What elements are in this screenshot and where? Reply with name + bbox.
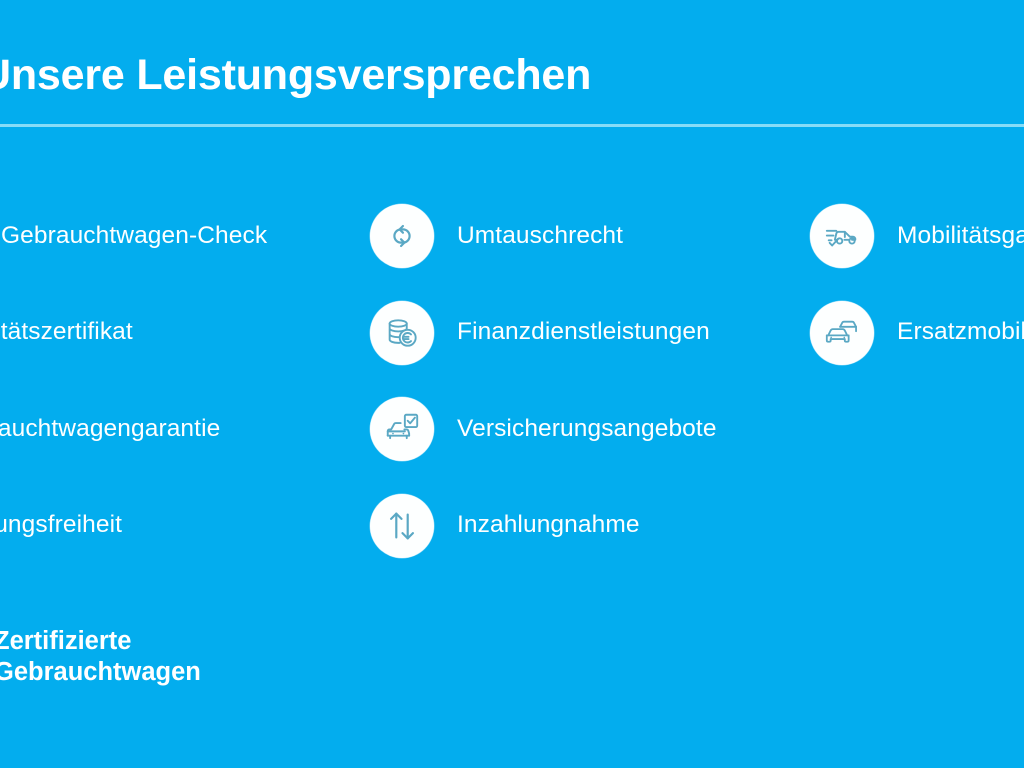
feature-item-qualitaetszertifikat[interactable]: Qualitätszertifikat bbox=[0, 285, 336, 382]
feature-label: Versicherungsangebote bbox=[457, 416, 717, 443]
feature-column-left: 360° Gebrauchtwagen-Check Qualitätszerti… bbox=[0, 188, 336, 574]
two-cars-icon bbox=[810, 301, 874, 365]
feature-item-inzahlungnahme[interactable]: Inzahlungnahme bbox=[370, 478, 810, 575]
feature-label: Inzahlungnahme bbox=[457, 512, 640, 539]
feature-label: Umtauschrecht bbox=[457, 223, 623, 250]
feature-label: Ersatzmobilität bbox=[897, 319, 1024, 346]
car-checkbox-icon bbox=[370, 397, 434, 461]
up-down-arrows-icon bbox=[370, 494, 434, 558]
feature-item-wartungsfreiheit[interactable]: Wartungsfreiheit bbox=[0, 478, 336, 575]
feature-item-finanzdienstleistungen[interactable]: Finanzdienstleistungen bbox=[370, 285, 810, 382]
certified-used-cars-badge: Zertifizierte Gebrauchtwagen bbox=[0, 626, 414, 688]
feature-item-gebrauchtwagengarantie[interactable]: Gebrauchtwagengarantie bbox=[0, 381, 336, 478]
features-grid: 360° Gebrauchtwagen-Check Qualitätszerti… bbox=[0, 188, 1024, 588]
feature-label: Wartungsfreiheit bbox=[0, 512, 122, 539]
feature-label: 360° Gebrauchtwagen-Check bbox=[0, 223, 267, 250]
feature-item-versicherungsangebote[interactable]: Versicherungsangebote bbox=[370, 381, 810, 478]
feature-item-ersatzmobilitaet[interactable]: Ersatzmobilität bbox=[810, 285, 1024, 382]
exchange-arrows-icon bbox=[370, 204, 434, 268]
car-speed-check-icon bbox=[810, 204, 874, 268]
feature-label: Finanzdienstleistungen bbox=[457, 319, 710, 346]
feature-label: Gebrauchtwagengarantie bbox=[0, 416, 220, 443]
coins-euro-icon bbox=[370, 301, 434, 365]
title-divider bbox=[0, 124, 1024, 127]
feature-item-gebrauchtwagen-check[interactable]: 360° Gebrauchtwagen-Check bbox=[0, 188, 336, 285]
certified-badge-line-1: Zertifizierte bbox=[0, 626, 414, 657]
certified-badge-line-2: Gebrauchtwagen bbox=[0, 657, 414, 688]
slide-root: Unsere Leistungsversprechen 360° Gebrauc… bbox=[0, 0, 1024, 768]
feature-column-middle: Umtauschrecht Finanzdienstleistungen bbox=[370, 188, 810, 574]
feature-item-umtauschrecht[interactable]: Umtauschrecht bbox=[370, 188, 810, 285]
feature-column-right: Mobilitätsgarantie bbox=[810, 188, 1024, 381]
feature-label: Mobilitätsgarantie bbox=[897, 223, 1024, 250]
page-title: Unsere Leistungsversprechen bbox=[0, 54, 1024, 97]
feature-item-mobilitaetsgarantie[interactable]: Mobilitätsgarantie bbox=[810, 188, 1024, 285]
feature-label: Qualitätszertifikat bbox=[0, 319, 133, 346]
